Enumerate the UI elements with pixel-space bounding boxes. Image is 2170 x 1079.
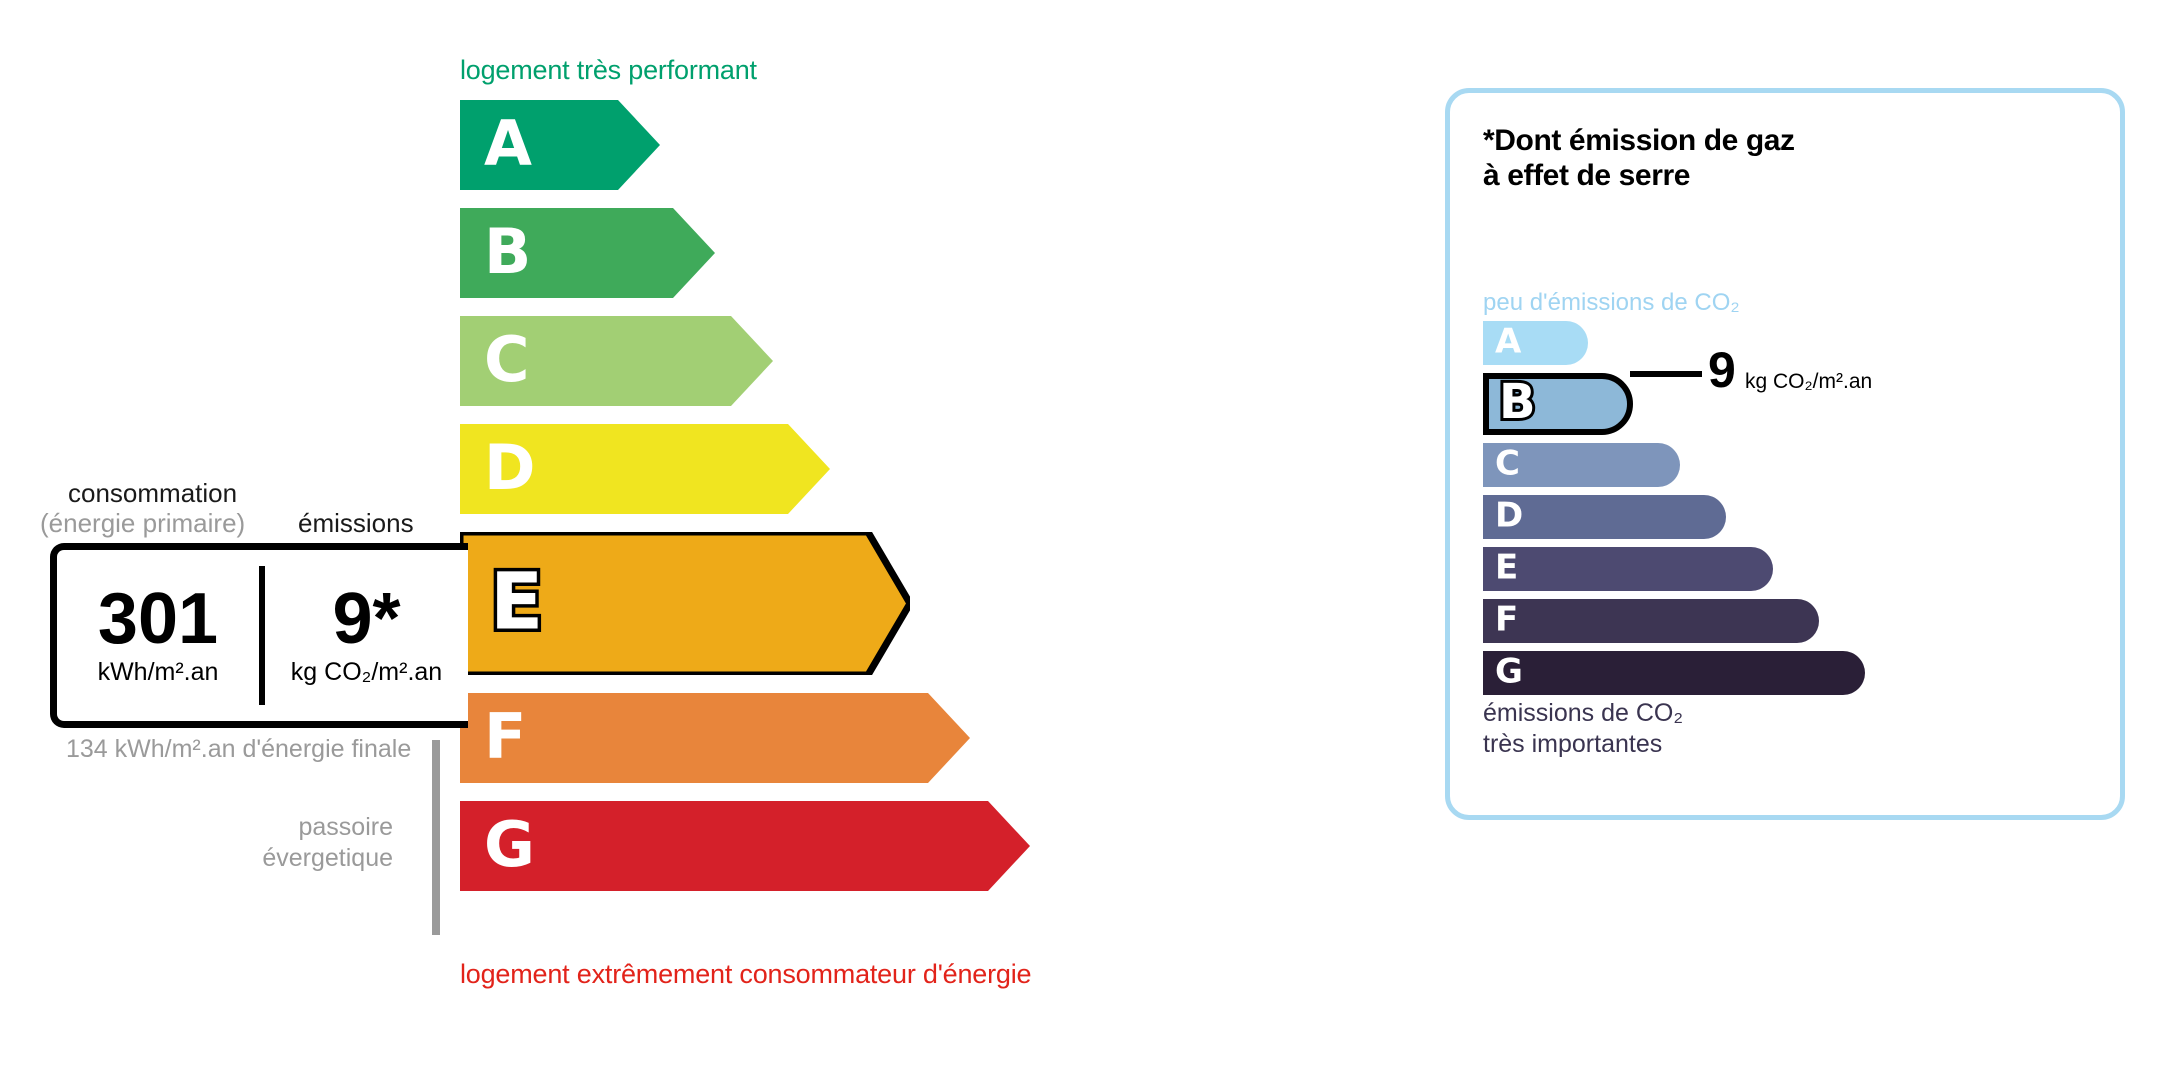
co2-value-unit: kg CO₂/m².an [1745,370,1872,394]
energy-bottom-caption: logement extrêmement consommateur d'éner… [460,959,1031,990]
energy-bar-d: D [460,424,830,514]
co2-bar-letter: G [1495,655,1523,689]
final-energy-note: 134 kWh/m².an d'énergie finale [66,734,411,765]
co2-bar-letter: C [1495,447,1520,481]
energy-bar-f: F [460,693,970,783]
co2-bar-a: A [1483,321,1588,365]
co2-bar-d: D [1483,495,1726,539]
value-summary-box: 301 kWh/m².an 9* kg CO₂/m².an [50,543,468,728]
emissions-label: émissions [298,508,414,539]
energy-bar-letter: A [484,113,532,175]
emission-value: 9* [332,584,400,655]
passoire-indicator-bar [432,740,440,935]
co2-leader-line [1630,371,1702,377]
co2-value: 9 [1708,345,1736,395]
co2-bar-c: C [1483,443,1680,487]
co2-bar-letter: E [1495,551,1518,585]
emission-value-cell: 9* kg CO₂/m².an [265,550,468,721]
co2-bar-letter: D [1495,499,1523,533]
co2-top-caption: peu d'émissions de CO₂ [1483,289,1740,317]
energy-bar-b: B [460,208,715,298]
co2-bar-f: F [1483,599,1819,643]
energy-bar-e: E [460,532,910,675]
co2-bar-letter: A [1495,325,1521,359]
passoire-energetique-label: passoire évergetique [188,812,393,875]
emission-unit: kg CO₂/m².an [291,658,442,687]
consumption-unit: kWh/m².an [98,658,219,687]
co2-bar-g: G [1483,651,1865,695]
energy-bar-letter: D [484,437,535,499]
energy-bar-letter: E [490,563,543,641]
dpe-label: logement très performant ABCDEFG logemen… [0,0,2170,1079]
energy-bar-letter: B [484,221,531,283]
co2-bar-letter: B [1499,378,1536,426]
consumption-value: 301 [98,584,218,655]
co2-bottom-caption: émissions de CO₂ très importantes [1483,698,1683,759]
co2-panel-title: *Dont émission de gaz à effet de serre [1483,123,1795,194]
energy-bar-letter: G [484,814,535,876]
consumption-value-cell: 301 kWh/m².an [57,550,259,721]
co2-bar-shape [1483,599,1819,643]
co2-bar-shape [1483,547,1773,591]
energy-performance-panel: logement très performant ABCDEFG logemen… [0,0,1400,1079]
energy-bar-letter: C [484,329,530,391]
energy-bar-a: A [460,100,660,190]
consumption-label: consommation [68,478,237,509]
co2-bar-b: B [1483,373,1633,435]
energy-top-caption: logement très performant [460,55,757,86]
energy-bar-c: C [460,316,773,406]
co2-emissions-panel: *Dont émission de gaz à effet de serre p… [1445,88,2125,820]
energy-grade-bars: ABCDEFG [460,100,1280,945]
co2-bar-shape [1483,651,1865,695]
co2-bar-letter: F [1495,603,1518,637]
consumption-sublabel: (énergie primaire) [40,508,245,539]
co2-bar-e: E [1483,547,1773,591]
energy-bar-letter: F [484,706,526,768]
energy-bar-g: G [460,801,1030,891]
